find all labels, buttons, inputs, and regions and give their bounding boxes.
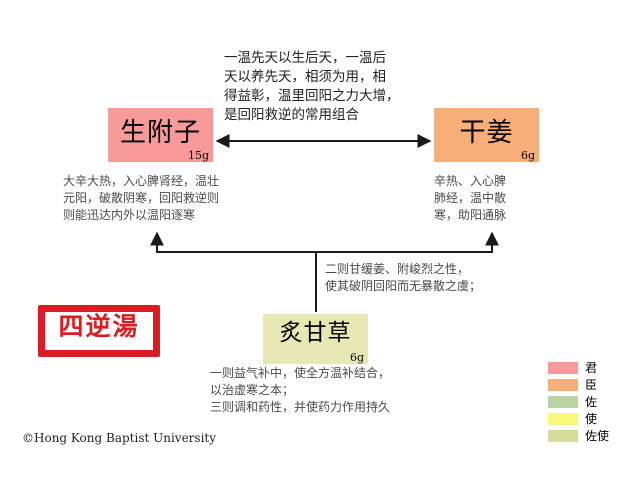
diagram-canvas: 一温先天以生后天，一温后 天以养先天，相须为用，相 得益彰，温里回阳之力大增， … xyxy=(0,0,640,480)
legend-swatch-chen xyxy=(548,379,578,391)
copyright-notice: ©Hong Kong Baptist University xyxy=(22,431,216,445)
herb-description-ganjiang: 辛热、入心脾 肺经，温中散 寒，助阳通脉 xyxy=(434,173,516,224)
legend-label-shi: 使 xyxy=(585,413,597,425)
legend-item-chen: 臣 xyxy=(548,377,634,392)
legend-swatch-zuoshi xyxy=(548,430,578,442)
legend-swatch-shi xyxy=(548,413,578,425)
legend-label-jun: 君 xyxy=(585,362,597,374)
herb-name-ganjiang: 干姜 xyxy=(434,120,539,146)
legend-item-shi: 使 xyxy=(548,411,634,426)
herb-name-gancao: 炙甘草 xyxy=(263,322,368,345)
legend-label-chen: 臣 xyxy=(585,379,597,391)
herb-dose-ganjiang: 6g xyxy=(521,150,535,161)
legend-swatch-zuo xyxy=(548,396,578,408)
herb-name-fuzi: 生附子 xyxy=(108,120,213,146)
legend-label-zuoshi: 佐使 xyxy=(585,430,609,442)
top-annotation-text: 一温先天以生后天，一温后 天以养先天，相须为用，相 得益彰，温里回阳之力大增， … xyxy=(224,49,434,126)
legend-item-zuo: 佐 xyxy=(548,394,634,409)
herb-description-fuzi: 大辛大热，入心脾肾经，温壮 元阳，破散阴寒，回阳救逆则 则能迅达内外以温阳逐寒 xyxy=(63,173,263,224)
legend-item-jun: 君 xyxy=(548,360,634,375)
role-legend: 君 臣 佐 使 佐使 xyxy=(548,360,634,445)
herb-box-gancao[interactable]: 炙甘草 6g xyxy=(263,314,368,364)
middle-annotation-text: 二则甘缓姜、附峻烈之性， 使其破阴回阳而无暴散之虞； xyxy=(325,261,535,295)
herb-dose-fuzi: 15g xyxy=(188,150,209,161)
legend-label-zuo: 佐 xyxy=(585,396,597,408)
seal-formula-name: 四逆湯 xyxy=(38,314,160,340)
herb-description-gancao: 一则益气补中，使全方温补结合， 以治虚寒之本； 三则调和药性，并使药力作用持久 xyxy=(210,365,460,416)
herb-box-fuzi[interactable]: 生附子 15g xyxy=(108,108,213,162)
formula-seal-stamp: 四逆湯 xyxy=(38,305,160,357)
legend-item-zuoshi: 佐使 xyxy=(548,428,634,443)
legend-swatch-jun xyxy=(548,362,578,374)
herb-box-ganjiang[interactable]: 干姜 6g xyxy=(434,108,539,162)
herb-dose-gancao: 6g xyxy=(350,352,364,363)
